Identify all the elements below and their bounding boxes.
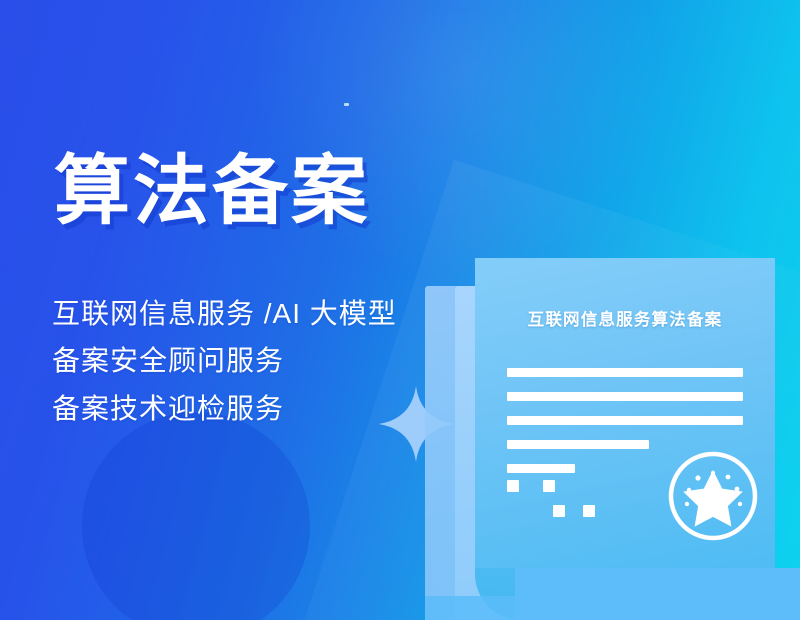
background-circle (82, 412, 310, 620)
certificate-body-line (507, 392, 743, 401)
promo-banner: 算法备案 互联网信息服务 /AI 大模型 备案安全顾问服务 备案技术迎检服务 互… (0, 0, 800, 620)
service-list-item: 备案技术迎检服务 (52, 393, 397, 424)
micro-sparkle-icon (344, 103, 349, 106)
star-seal-icon (665, 448, 761, 544)
certificate-illustration: 互联网信息服务算法备案 (425, 258, 785, 620)
certificate-body-line (507, 464, 575, 473)
bottom-accent-band (515, 568, 800, 620)
service-list: 互联网信息服务 /AI 大模型 备案安全顾问服务 备案技术迎检服务 (52, 298, 397, 424)
certificate-body-mark (507, 480, 519, 492)
background-glow (250, 0, 670, 280)
certificate-body-mark (543, 480, 555, 492)
certificate-title: 互联网信息服务算法备案 (475, 306, 775, 330)
certificate-body-line (507, 416, 743, 425)
certificate-body-line (507, 368, 743, 377)
certificate-card: 互联网信息服务算法备案 (475, 258, 775, 568)
certificate-body-mark (583, 505, 595, 517)
service-list-item: 备案安全顾问服务 (52, 345, 397, 376)
bottom-accent-band-left (425, 596, 520, 620)
certificate-body-line (507, 440, 649, 449)
service-list-item: 互联网信息服务 /AI 大模型 (52, 298, 397, 329)
certificate-body-mark (553, 505, 565, 517)
page-title: 算法备案 (54, 152, 370, 232)
